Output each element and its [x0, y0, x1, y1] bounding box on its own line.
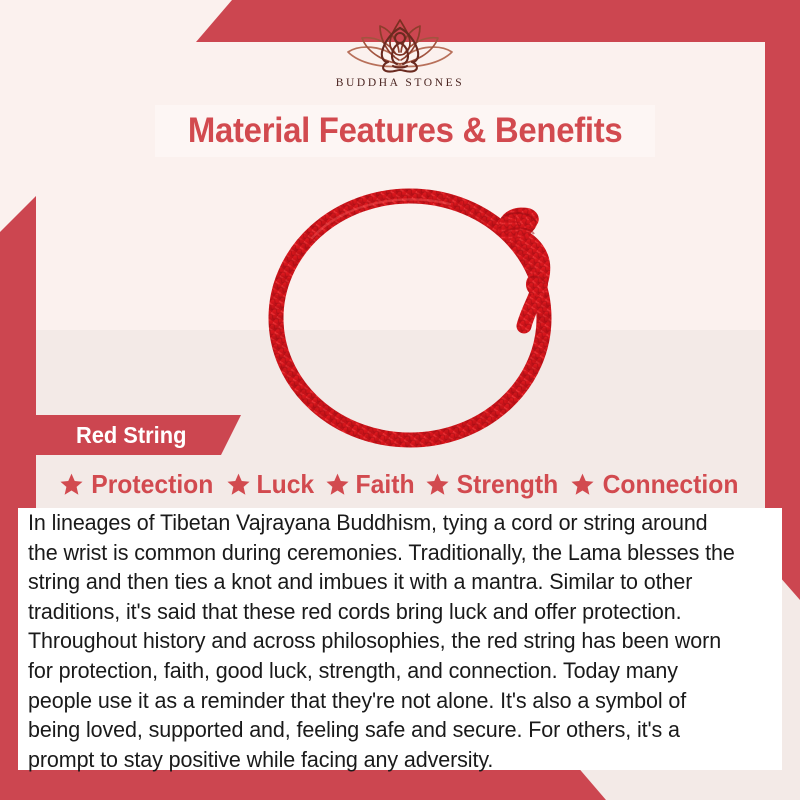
star-icon	[570, 472, 595, 497]
product-image	[250, 160, 610, 460]
product-ribbon-label: Red String	[36, 415, 241, 455]
lotus-meditation-logo-icon	[336, 14, 464, 76]
benefit-label: Faith	[355, 469, 414, 500]
benefit-item-luck: Luck	[226, 469, 316, 500]
poster-root: BUDDHA STONES Material Features & Benefi…	[0, 0, 800, 800]
benefit-label: Strength	[456, 469, 558, 500]
benefit-item-faith: Faith	[325, 469, 416, 500]
benefits-row: Protection Luck Faith Strength Connectio	[36, 462, 765, 507]
brand-header: BUDDHA STONES	[0, 0, 800, 108]
benefit-item-protection: Protection	[59, 469, 217, 500]
brand-name: BUDDHA STONES	[336, 77, 464, 89]
benefit-label: Luck	[256, 469, 314, 500]
ribbon-label-text: Red String	[40, 422, 187, 449]
benefit-item-connection: Connection	[570, 469, 742, 500]
title-band: Material Features & Benefits	[155, 105, 655, 157]
benefit-label: Connection	[602, 469, 738, 500]
star-icon	[226, 472, 251, 497]
description-text: In lineages of Tibetan Vajrayana Buddhis…	[28, 508, 740, 774]
star-icon	[59, 472, 84, 497]
star-icon	[325, 472, 350, 497]
benefit-item-strength: Strength	[425, 469, 561, 500]
page-title: Material Features & Benefits	[188, 111, 623, 151]
benefit-label: Protection	[92, 469, 214, 500]
star-icon	[425, 472, 450, 497]
